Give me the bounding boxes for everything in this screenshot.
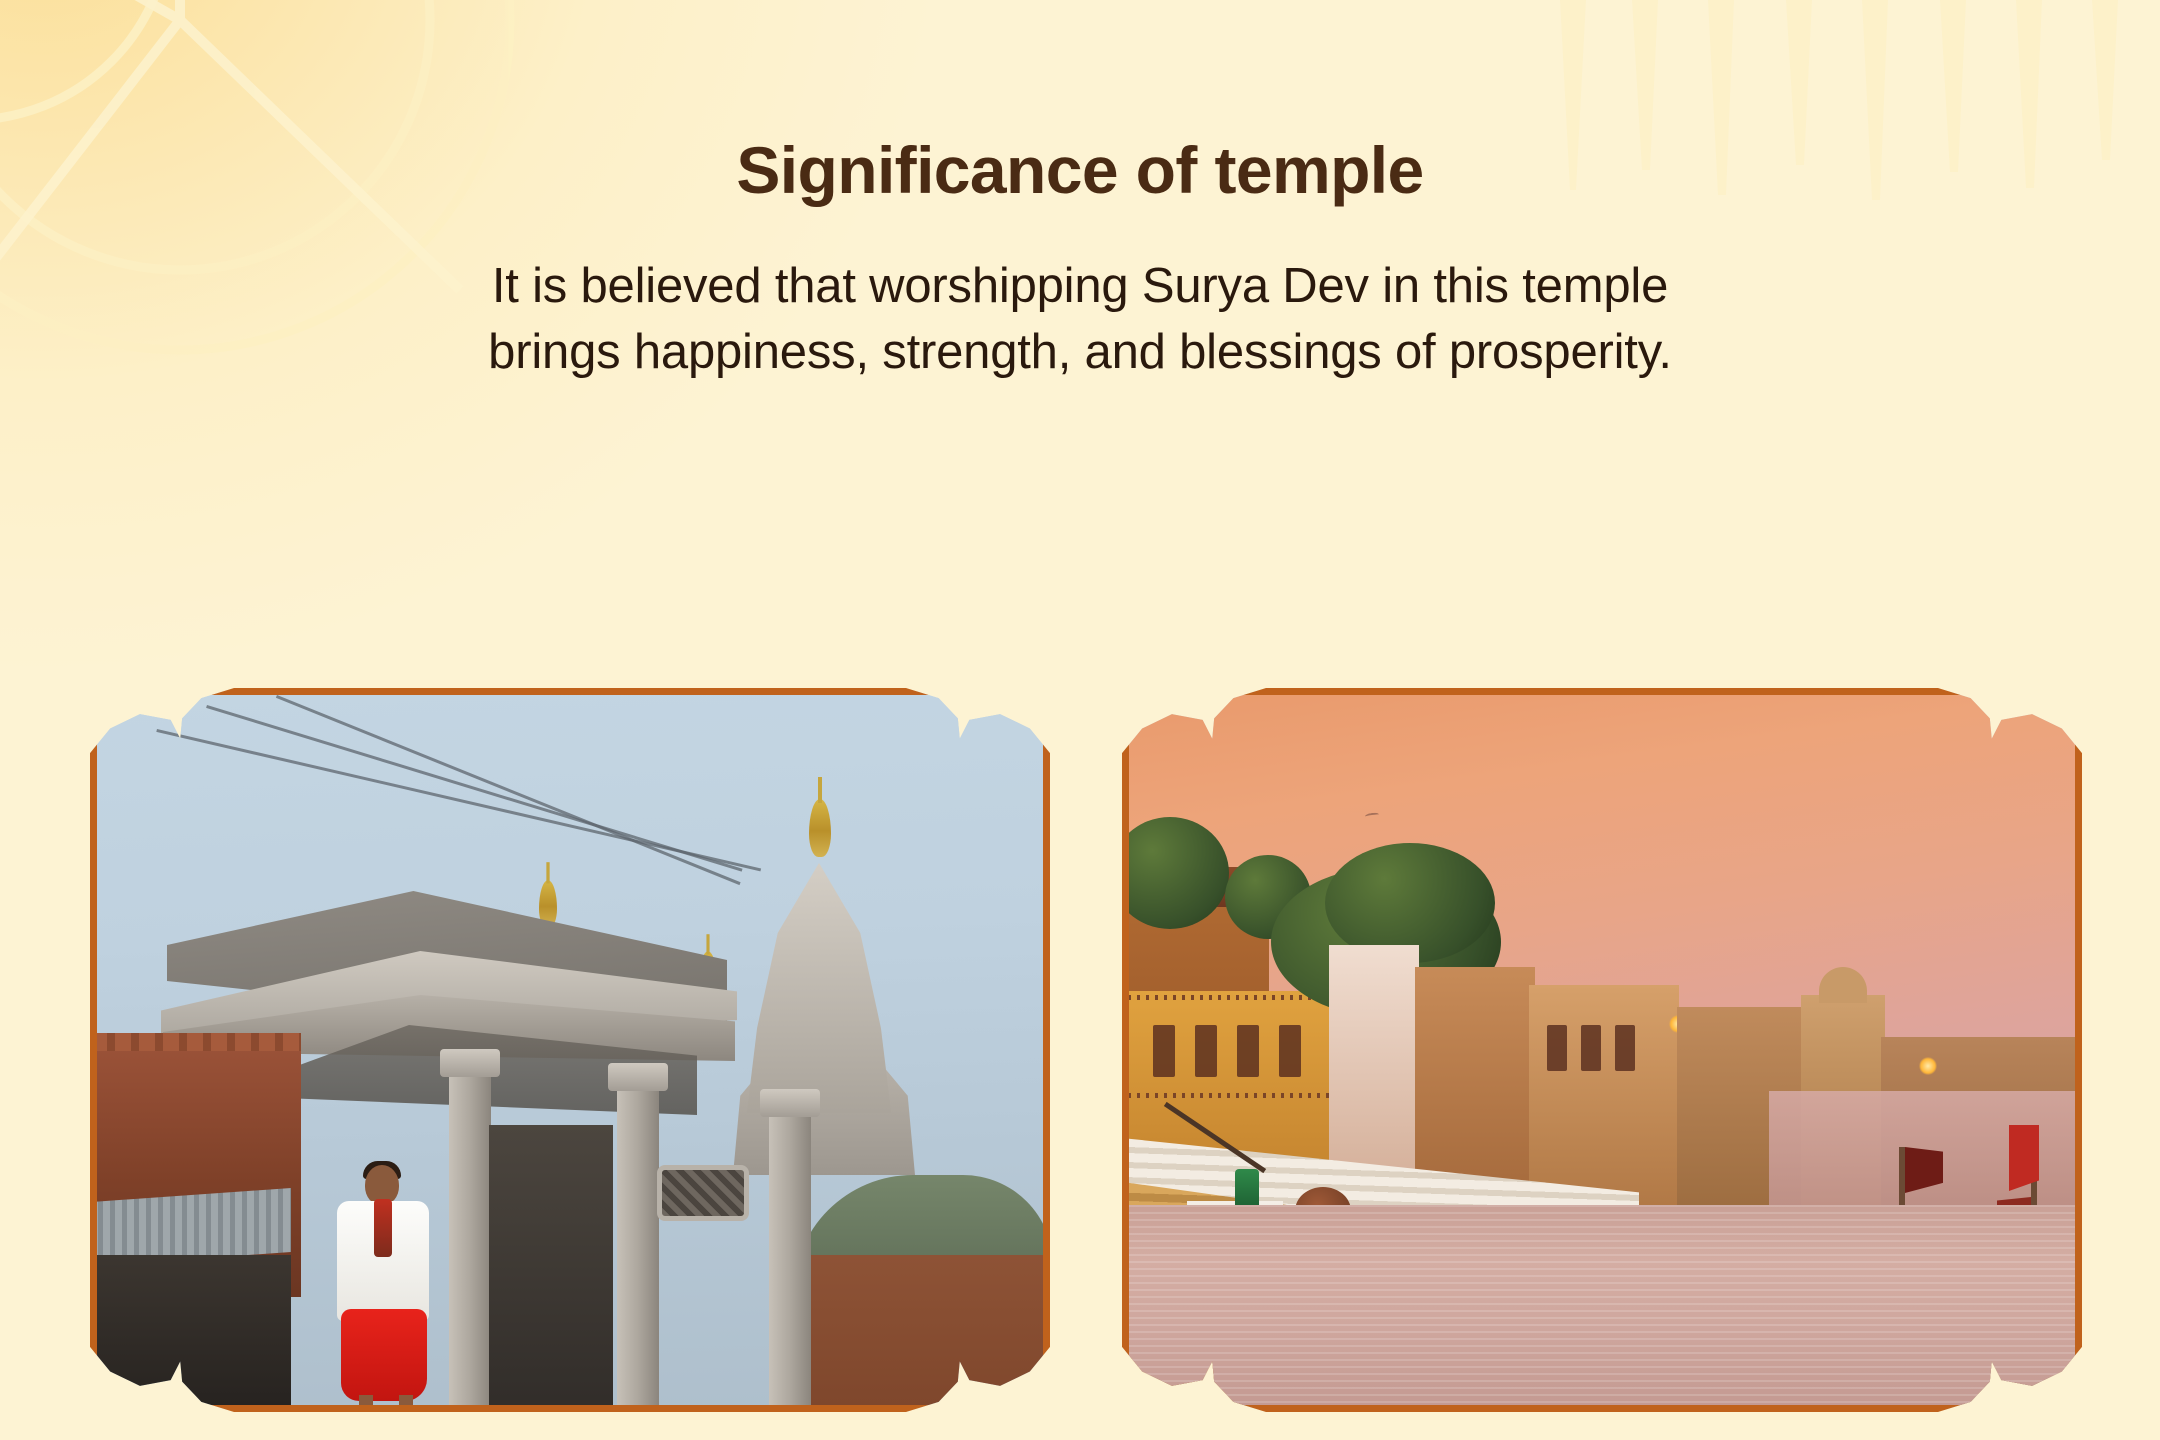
- window: [1153, 1025, 1175, 1077]
- devotee-dhoti: [341, 1309, 427, 1401]
- devotee-scarf: [374, 1199, 392, 1257]
- temple-pillar: [617, 1089, 659, 1412]
- window: [1581, 1025, 1601, 1071]
- ghat-photo-frame: श्री प्रभुदत्त मंदिर: [1122, 688, 2082, 1412]
- ganges-water: [1129, 1205, 2075, 1405]
- devotee-leg: [359, 1395, 373, 1412]
- text-block: Significance of temple It is believed th…: [0, 0, 2160, 383]
- window: [1279, 1025, 1301, 1077]
- balcony-railing: [1122, 1093, 1329, 1098]
- window: [1237, 1025, 1259, 1077]
- window: [1615, 1025, 1635, 1071]
- ghat-photo: श्री प्रभुदत्त मंदिर: [1129, 695, 2075, 1405]
- red-flag: [2009, 1125, 2039, 1191]
- page-title: Significance of temple: [0, 132, 2160, 208]
- description-line-1: It is believed that worshipping Surya De…: [0, 256, 2160, 318]
- temple-doorway: [489, 1125, 613, 1412]
- lattice-window: [657, 1165, 749, 1221]
- temple-pillar: [449, 1075, 491, 1412]
- window: [1547, 1025, 1567, 1071]
- devotee-leg: [399, 1395, 413, 1412]
- temple-pillar: [769, 1115, 811, 1412]
- description-line-2: brings happiness, strength, and blessing…: [0, 322, 2160, 384]
- street-lamp-glow: [1919, 1057, 1937, 1075]
- window: [1195, 1025, 1217, 1077]
- temple-photo: [97, 695, 1043, 1405]
- temple-photo-frame: [90, 688, 1050, 1412]
- balcony-railing: [1122, 995, 1329, 1000]
